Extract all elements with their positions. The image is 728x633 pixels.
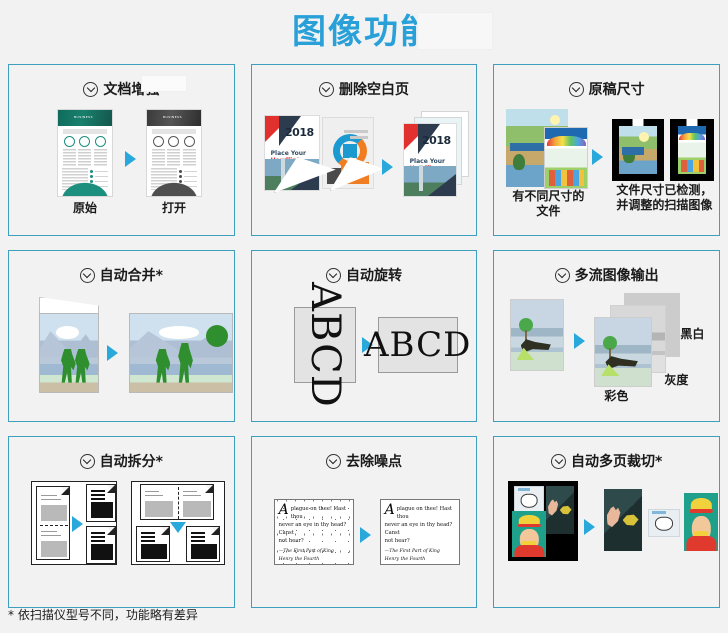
sample-source: —The First Part of King Henry the Fourth	[279, 548, 349, 564]
card-header: 多流图像输出	[555, 265, 659, 285]
split-output-right	[186, 526, 220, 562]
people-shape	[681, 160, 705, 172]
document-text-columns	[62, 149, 108, 166]
hat-shape	[519, 515, 539, 526]
hand-shape	[607, 506, 623, 530]
text-band	[510, 143, 547, 151]
chevron-down-circle-icon	[555, 268, 570, 283]
card-header: 删除空白页	[319, 79, 409, 99]
page-corner-fold	[205, 485, 213, 493]
page-tab	[687, 119, 698, 126]
merged-image	[129, 313, 233, 393]
text-band	[622, 147, 645, 155]
palm-tree-shape	[519, 318, 533, 332]
card-header: 自动多页裁切*	[551, 451, 662, 471]
scanned-image-large	[619, 126, 657, 174]
upright-page: ABCD	[378, 317, 458, 373]
sample-line-2: never an eye in thy head? Canst	[279, 521, 349, 537]
palm-tree-shape	[603, 336, 617, 350]
chevron-down-circle-icon	[569, 82, 584, 97]
caption-line: 文件	[500, 204, 596, 219]
card-header: 自动拆分*	[80, 451, 163, 471]
rotated-page: ABCD	[294, 307, 356, 383]
document-original-color: BUSINESS	[57, 109, 113, 197]
photo-fish-input	[546, 486, 574, 534]
rainbow-shape	[547, 136, 586, 146]
sand-band	[511, 352, 563, 370]
original-small-document	[544, 127, 588, 189]
split-output-left	[136, 526, 170, 562]
photo-man-output	[684, 493, 718, 551]
body-shape	[687, 536, 716, 551]
card-title: 多流图像输出	[575, 265, 659, 285]
fish-shape	[560, 505, 572, 516]
page-corner-fold	[161, 527, 169, 535]
page-title: 图像功能	[292, 15, 436, 49]
feature-card-auto-merge[interactable]: 自动合并*	[8, 250, 235, 422]
sand-band	[595, 368, 651, 386]
source-sheet	[140, 484, 214, 520]
poster-line-1: Place Your	[271, 150, 306, 157]
document-text-columns	[151, 149, 197, 166]
title-highlight-box	[417, 12, 493, 50]
document-subtitle-bar	[63, 129, 107, 134]
feature-card-auto-rotate[interactable]: 自动旋转 ABCD ABCD	[251, 250, 478, 422]
card-header: 原稿尺寸	[569, 79, 645, 99]
document-circle-icons	[151, 136, 197, 147]
tree-shape	[206, 325, 228, 347]
output-color	[594, 317, 652, 387]
document-circle-icons	[62, 136, 108, 147]
card-illustration: BUSINESS BUSINESS	[13, 105, 230, 231]
process-arrow-icon	[360, 527, 371, 543]
card-illustration	[13, 291, 230, 417]
page-corner-fold	[107, 527, 115, 535]
cloud-shape	[56, 326, 79, 338]
fish-shape	[623, 514, 639, 528]
photo-header-band	[652, 511, 666, 514]
scanned-image-small	[678, 126, 706, 174]
hat-shape	[691, 498, 711, 512]
page-header: 图像功能	[0, 0, 728, 64]
sample-text-upright: ABCD	[364, 325, 471, 365]
document-subtitle-bar	[152, 129, 196, 134]
chevron-down-circle-icon	[551, 454, 566, 469]
process-arrow-icon	[125, 151, 136, 167]
sun-shape	[639, 132, 649, 142]
cloud-shape	[159, 326, 200, 338]
process-arrow-icon	[574, 333, 585, 349]
noisy-text-sample: A plague on thee! Hast thou never an eye…	[274, 499, 354, 565]
chevron-down-circle-icon	[326, 268, 341, 283]
process-arrow-icon	[107, 345, 118, 361]
card-title: 自动合并*	[100, 265, 163, 285]
label-black-and-white: 黑白	[680, 327, 704, 342]
card-illustration: 2018 Place Your Headline Here	[256, 105, 473, 231]
photo-dog-output	[648, 509, 680, 537]
sample-line-1: plague on thee! Hast thou	[385, 505, 455, 521]
caption-line: 有不同尺寸的	[500, 189, 596, 204]
feature-card-auto-split[interactable]: 自动拆分*	[8, 436, 235, 608]
sample-text-rotated: ABCD	[302, 282, 348, 408]
page-corner-fold	[107, 485, 115, 493]
scan-bed-with-photos	[508, 481, 578, 561]
poster-text-bar	[344, 130, 368, 133]
process-arrow-icon	[584, 519, 595, 535]
body-shape	[515, 545, 544, 557]
sample-line-3: not hear?	[385, 537, 455, 545]
card-title: 自动旋转	[346, 265, 402, 285]
drop-cap: A	[385, 505, 395, 516]
document-header-band: BUSINESS	[147, 110, 201, 126]
feature-card-multi-stream-output[interactable]: 多流图像输出	[493, 250, 720, 422]
sample-line-3: not hear?	[279, 537, 349, 545]
sample-number: 2.1	[385, 564, 455, 565]
caption-input: 有不同尺寸的 文件	[500, 189, 596, 219]
label-after: 打开	[146, 201, 202, 216]
poster-dark-corner	[428, 174, 456, 196]
card-title: 原稿尺寸	[589, 79, 645, 99]
sample-line-2: never an eye in thy head? Canst	[385, 521, 455, 537]
photo-dog-input	[514, 486, 544, 514]
hand-shape	[548, 499, 560, 517]
source-image	[510, 299, 564, 371]
poster-year: 2018	[422, 134, 451, 147]
document-footer-arc	[147, 180, 201, 196]
card-illustration	[13, 477, 230, 603]
document-footer-arc	[58, 180, 112, 196]
rainbow-shape	[679, 133, 705, 141]
card-illustration: A plague on thee! Hast thou never an eye…	[256, 477, 473, 603]
poster-square-accent	[343, 144, 357, 158]
card-title: 去除噪点	[346, 451, 402, 471]
label-before: 原始	[57, 201, 113, 216]
caption-line: 并调整的扫描图像	[608, 198, 720, 213]
scanned-output-large	[612, 119, 664, 181]
poster-line-1: Place Your	[410, 158, 445, 165]
caption-line: 文件尺寸已检测，	[608, 183, 720, 198]
split-group-vertical	[31, 481, 117, 565]
feature-card-document-enhancement[interactable]: 文档增强 BUSINESS BUSINESS	[8, 64, 235, 236]
clean-text-sample: A plague on thee! Hast thou never an eye…	[380, 499, 460, 565]
poster-text-bar	[350, 136, 368, 139]
sun-shape	[550, 115, 560, 125]
chevron-down-circle-icon	[326, 454, 341, 469]
page-tab	[633, 119, 644, 126]
label-color: 彩色	[604, 389, 628, 404]
card-title: 自动拆分*	[100, 451, 163, 471]
card-illustration: 有不同尺寸的 文件 文件尺寸已检测， 并调整的扫描图像	[498, 105, 715, 231]
process-arrow-icon	[72, 516, 83, 532]
feature-card-original-size[interactable]: 原稿尺寸	[493, 64, 720, 236]
sample-number: 2.1	[279, 564, 349, 565]
photo-fish-output	[604, 489, 642, 551]
page-corner-fold	[61, 487, 69, 495]
page-corner-fold	[211, 527, 219, 535]
photo-header-band	[518, 488, 531, 491]
card-illustration: ABCD ABCD	[256, 291, 473, 417]
feature-card-despeckle[interactable]: 去除噪点 A plague on thee! Hast thou never a…	[251, 436, 478, 608]
caption-output: 文件尺寸已检测， 并调整的扫描图像	[608, 183, 720, 213]
dog-shape	[655, 516, 673, 531]
sample-line-1: plague on thee! Hast thou	[279, 505, 349, 521]
chevron-down-circle-icon	[319, 82, 334, 97]
poster-year: 2018	[285, 126, 314, 139]
scanned-output-small	[670, 119, 714, 181]
people-shape	[549, 170, 584, 186]
source-sheet	[36, 486, 70, 560]
tree-shape	[513, 154, 525, 170]
process-arrow-icon	[382, 159, 393, 175]
output-stack-page-1: 2018 Place Your Headline Here	[403, 123, 457, 197]
card-title-highlight-box	[141, 75, 187, 92]
card-title: 删除空白页	[339, 79, 409, 99]
document-header-band: BUSINESS	[58, 110, 112, 126]
label-grayscale: 灰度	[664, 373, 688, 388]
dog-shape	[521, 493, 538, 508]
document-enhanced-gray: BUSINESS	[146, 109, 202, 197]
process-arrow-down-icon	[170, 522, 186, 533]
drop-cap: A	[279, 505, 289, 516]
split-output-bottom	[86, 526, 116, 564]
card-header: 去除噪点	[326, 451, 402, 471]
card-header: 自动合并*	[80, 265, 163, 285]
card-title: 自动多页裁切*	[571, 451, 662, 471]
card-illustration	[498, 477, 715, 603]
feature-card-blank-page-removal[interactable]: 删除空白页 2018 Place Your Headline Here	[251, 64, 478, 236]
split-output-top	[86, 484, 116, 522]
feature-grid: 文档增强 BUSINESS BUSINESS	[0, 64, 728, 608]
chevron-down-circle-icon	[80, 454, 95, 469]
feature-card-auto-multi-crop[interactable]: 自动多页裁切*	[493, 436, 720, 608]
split-group-horizontal	[131, 481, 225, 565]
chevron-down-circle-icon	[80, 268, 95, 283]
chevron-down-circle-icon	[83, 82, 98, 97]
process-arrow-icon	[592, 149, 603, 165]
card-illustration: 黑白 灰度 彩色	[498, 291, 715, 417]
folded-image	[39, 313, 99, 393]
photo-man-input	[512, 511, 546, 557]
sample-source: —The First Part of King Henry the Fourth	[385, 548, 455, 564]
footnote: * 依扫描仪型号不同，功能略有差异	[8, 606, 198, 623]
